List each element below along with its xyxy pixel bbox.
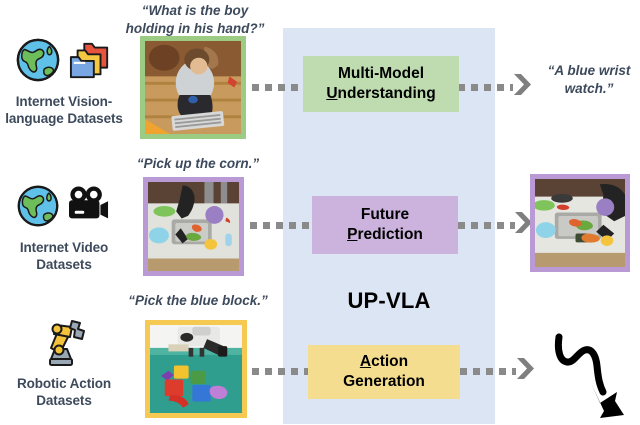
module-multi-model-understanding[interactable]: Multi-Model Understanding: [303, 56, 459, 112]
module-line2: Generation: [343, 372, 425, 392]
dataset-label-video: Internet Video Datasets: [0, 239, 128, 274]
input-image-vision-language: [140, 36, 246, 139]
globe-icon: [16, 184, 60, 233]
output-text-vision-language: “A blue wrist watch.”: [540, 62, 638, 98]
dataset-group-robot-action: Robotic Action Datasets: [0, 318, 128, 410]
dataset-label-line1: Internet Vision-: [0, 93, 128, 110]
dataset-label-line1: Internet Video: [0, 239, 128, 256]
module-line1: Future: [361, 205, 409, 225]
robot-arm-icon: [36, 317, 92, 372]
arrowhead-icon-row3: [515, 356, 539, 386]
diagram-canvas: UP-VLA: [0, 0, 640, 424]
dataset-label-line1: Robotic Action: [0, 375, 128, 392]
input-image-robot-action: [145, 320, 247, 418]
module-line2: Understanding: [326, 84, 435, 104]
dataset-icons-video: [0, 182, 128, 234]
connector-dots-input-to-module-1: [252, 84, 304, 91]
dataset-icons-vision-language: [0, 36, 128, 88]
module-action-generation[interactable]: Action Generation: [308, 345, 460, 399]
output-line2: watch.”: [540, 80, 638, 98]
connector-dots-module-to-output-3: [460, 368, 516, 375]
output-line1: “A blue wrist: [540, 62, 638, 80]
output-image-future-prediction: [530, 174, 630, 272]
module-future-prediction[interactable]: Future Prediction: [312, 196, 458, 254]
prompt-line1: “Pick up the corn.”: [125, 155, 271, 173]
video-camera-icon: [66, 186, 112, 231]
module-line2: Prediction: [347, 225, 423, 245]
dataset-label-line2: Datasets: [0, 392, 128, 409]
connector-dots-module-to-output-1: [458, 84, 513, 91]
dataset-label-line2: Datasets: [0, 256, 128, 273]
dataset-icons-robot-action: [0, 318, 128, 370]
input-image-video: [143, 177, 244, 276]
prompt-line2: holding in his hand?”: [120, 20, 270, 38]
connector-dots-input-to-module-2: [250, 222, 312, 229]
folders-icon: [67, 39, 113, 86]
prompt-video: “Pick up the corn.”: [125, 155, 271, 173]
prompt-vision-language: “What is the boy holding in his hand?”: [120, 2, 270, 37]
prompt-robot-action: “Pick the blue block.”: [122, 292, 274, 310]
dataset-label-vision-language: Internet Vision- language Datasets: [0, 93, 128, 128]
prompt-line1: “Pick the blue block.”: [122, 292, 274, 310]
arrowhead-icon-row1: [512, 72, 536, 102]
dataset-group-video: Internet Video Datasets: [0, 182, 128, 274]
connector-dots-input-to-module-3: [252, 368, 308, 375]
dataset-group-vision-language: Internet Vision- language Datasets: [0, 36, 128, 128]
model-title: UP-VLA: [283, 288, 495, 314]
prompt-line1: “What is the boy: [120, 2, 270, 20]
module-line1: Action: [360, 352, 408, 372]
output-trajectory-arrow: [545, 325, 637, 420]
module-line1: Multi-Model: [338, 64, 424, 84]
connector-dots-module-to-output-2: [458, 222, 515, 229]
globe-icon: [15, 37, 61, 88]
dataset-label-line2: language Datasets: [0, 110, 128, 127]
dataset-label-robot-action: Robotic Action Datasets: [0, 375, 128, 410]
